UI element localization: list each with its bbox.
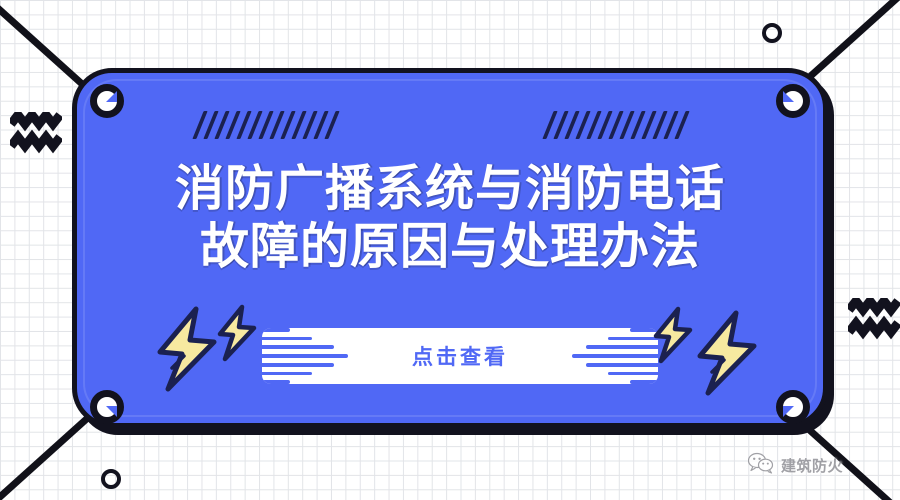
lightning-bolt-large-right xyxy=(692,310,764,401)
title-line-2: 故障的原因与处理办法 xyxy=(72,218,828,276)
speedlines-right xyxy=(568,328,658,384)
speedlines-left xyxy=(262,328,352,384)
click-to-view-button[interactable]: 点击查看 xyxy=(262,328,658,384)
screw-top-right xyxy=(776,84,810,118)
watermark-label: 建筑防火 xyxy=(781,455,843,476)
screw-bottom-right xyxy=(776,390,810,424)
zigzag-left xyxy=(10,112,62,165)
watermark: 建筑防火 xyxy=(748,452,843,479)
lightning-bolt-small-left xyxy=(214,304,260,367)
title-line-1: 消防广播系统与消防电话 xyxy=(72,160,828,218)
click-to-view-label: 点击查看 xyxy=(412,341,508,371)
zigzag-right xyxy=(848,298,900,351)
poster-canvas: 消防广播系统与消防电话 故障的原因与处理办法 点击查看 xyxy=(0,0,900,500)
hatch-left xyxy=(198,111,334,139)
ring-top-right xyxy=(762,23,782,43)
screw-bottom-left xyxy=(90,390,124,424)
page-title: 消防广播系统与消防电话 故障的原因与处理办法 xyxy=(72,160,828,276)
hatch-right xyxy=(548,111,684,139)
wechat-logo-icon xyxy=(748,452,774,479)
screw-top-left xyxy=(90,84,124,118)
lightning-bolt-small-right xyxy=(650,306,696,369)
ring-bottom-left xyxy=(101,469,121,489)
